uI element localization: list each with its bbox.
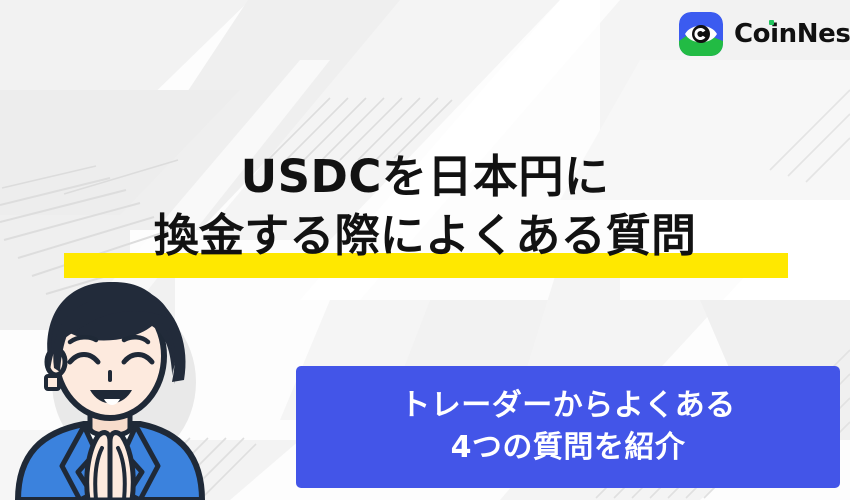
brand-name-text: CoinNess [734,19,850,49]
headline-line-2: 換金する際によくある質問 [0,207,850,266]
smiling-woman-hands-clasped-illustration [0,276,222,500]
logo-i-dot-icon [769,20,774,25]
callout-line-1: トレーダーからよくある [400,386,736,427]
callout-box: トレーダーからよくある 4つの質問を紹介 [296,366,840,488]
headline: USDCを日本円に 換金する際によくある質問 [0,148,850,265]
brand-name: CoinNess [734,21,850,47]
brand-logo[interactable]: CoinNess [679,12,850,56]
promo-banner: CoinNess USDCを日本円に 換金する際によくある質問 [0,0,850,500]
coinness-eye-logo-icon [679,12,723,56]
headline-line-1: USDCを日本円に [0,148,850,207]
callout-line-2: 4つの質問を紹介 [451,428,686,469]
